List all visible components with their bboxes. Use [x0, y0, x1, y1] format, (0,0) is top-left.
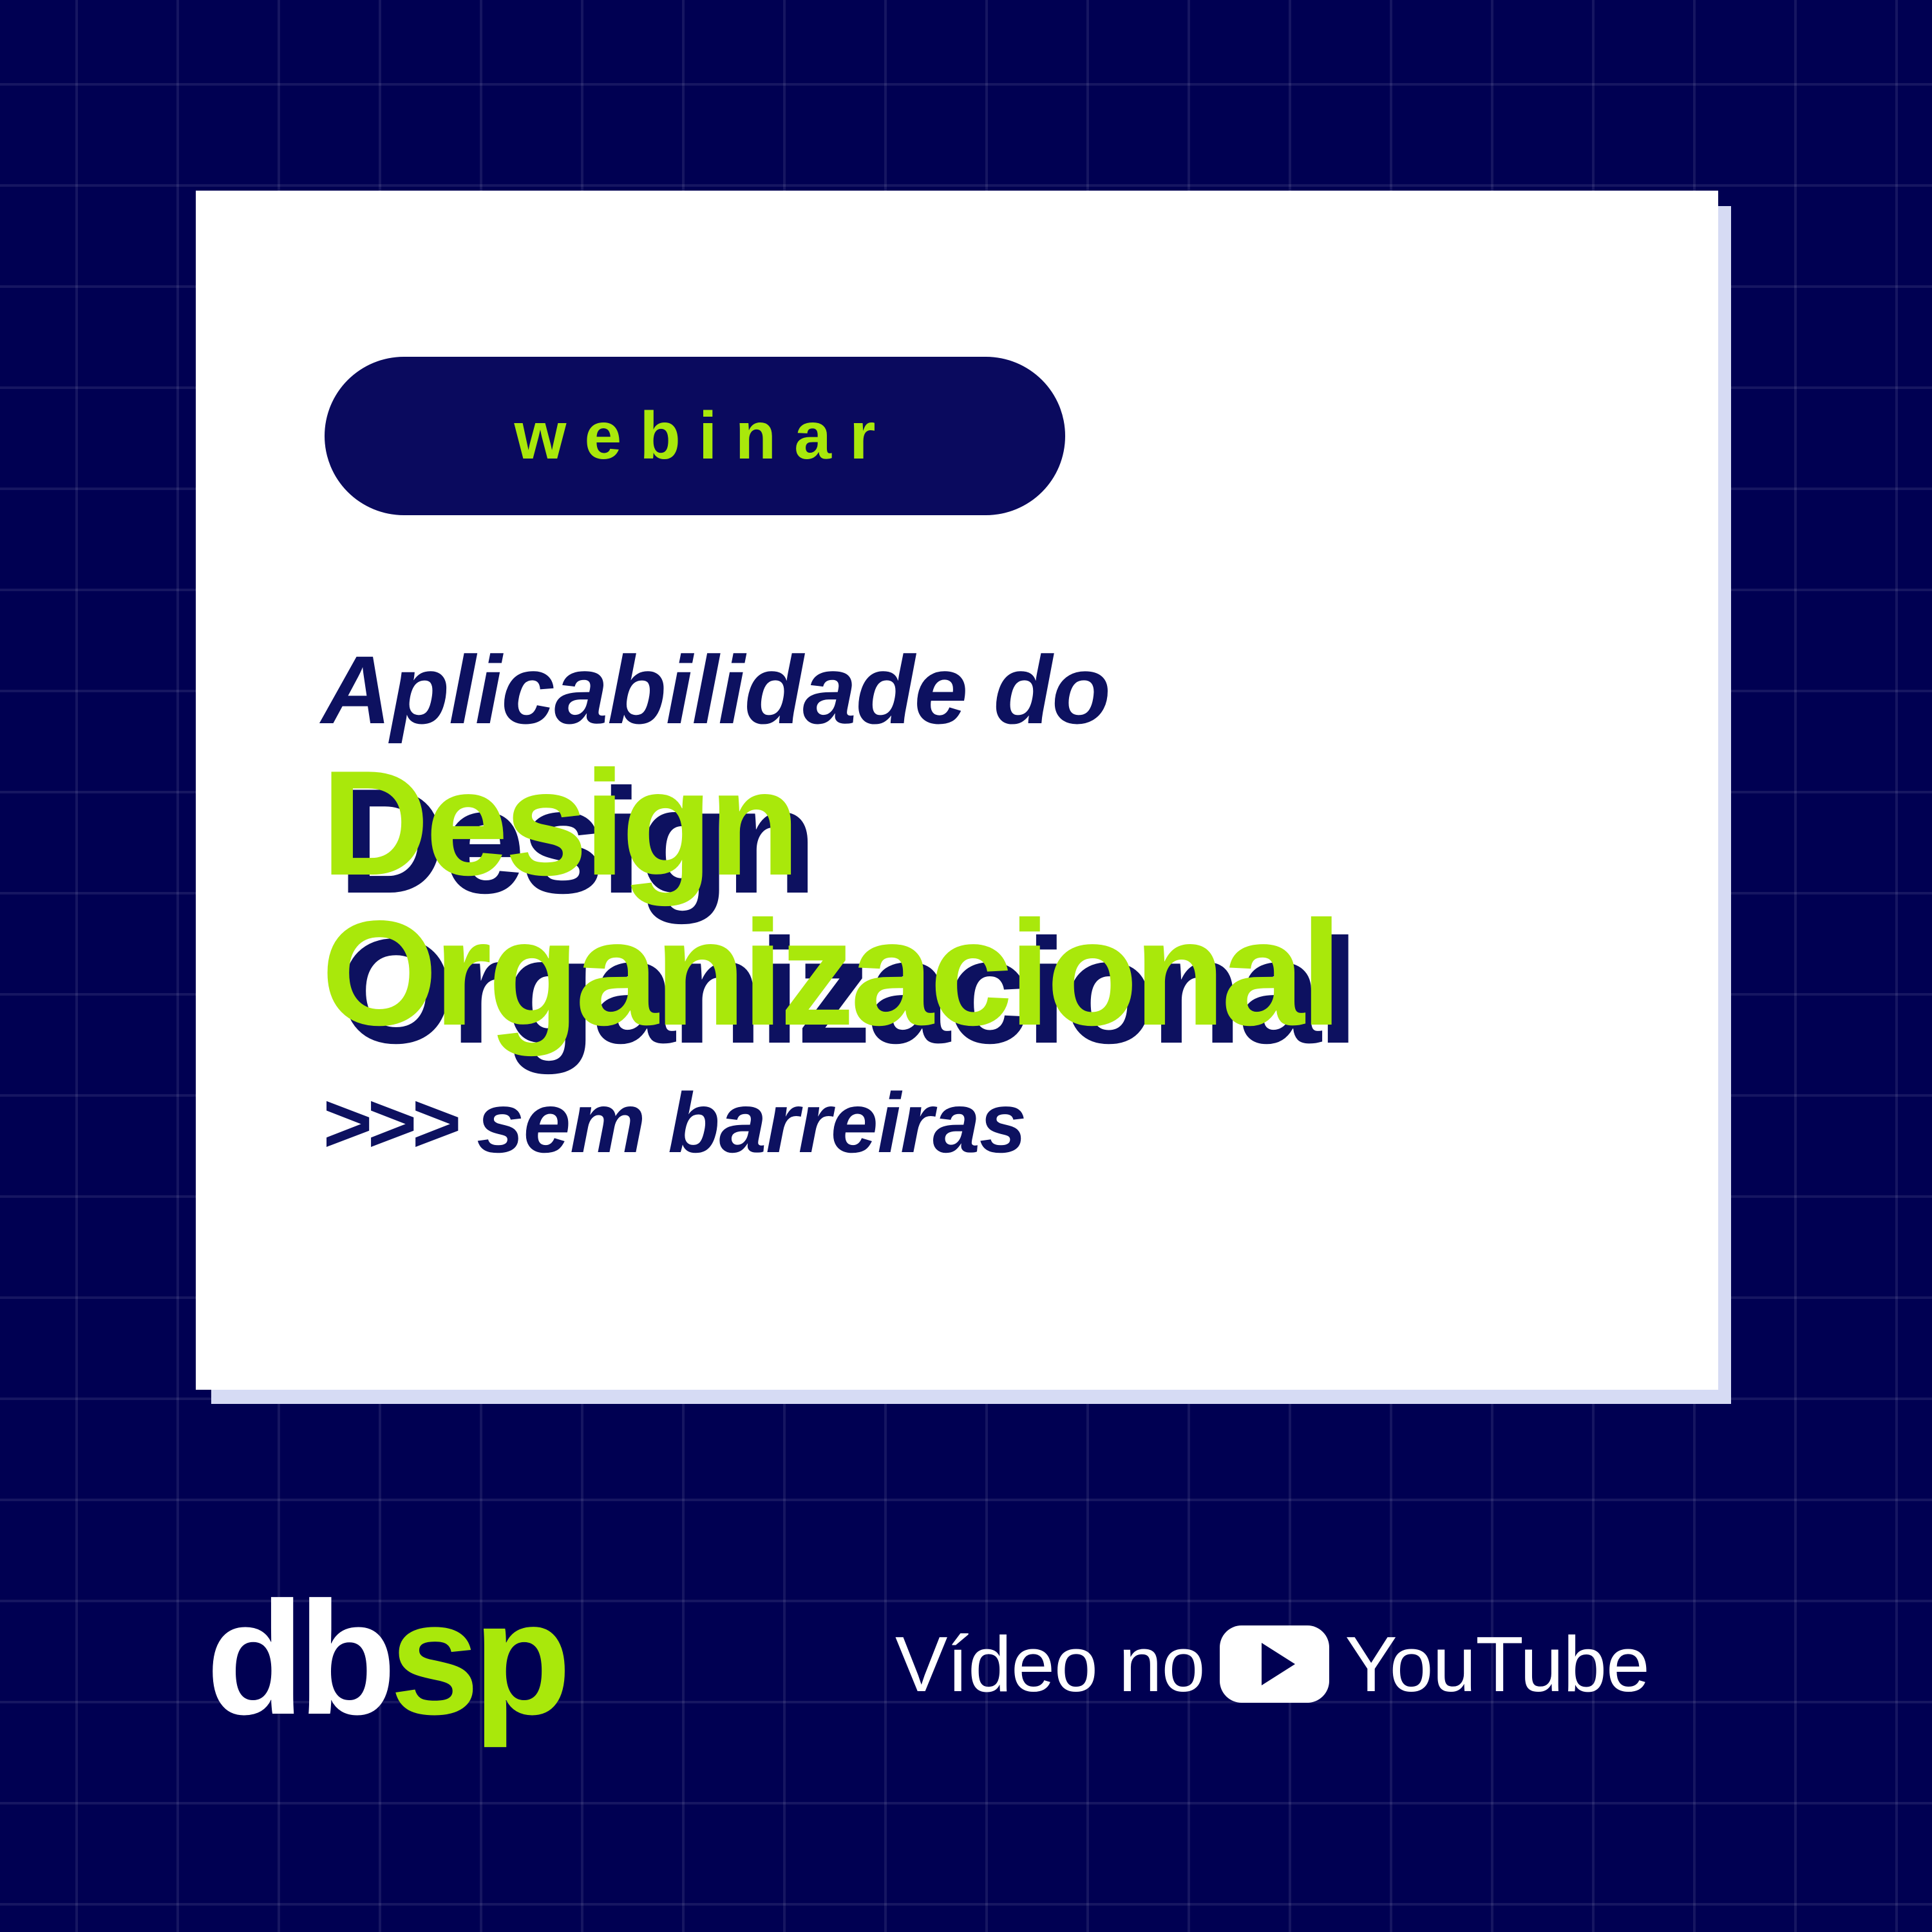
play-triangle-icon	[1262, 1643, 1295, 1685]
webinar-badge-label: webinar	[497, 402, 894, 469]
youtube-play-icon	[1220, 1625, 1329, 1703]
chevron-triple-icon: >>>	[321, 1075, 455, 1170]
headline-line-design: Design	[321, 747, 1674, 901]
headline-block: Aplicabilidade do Design Organizacional …	[321, 641, 1674, 1166]
dbsp-logo: dbsp	[206, 1578, 565, 1739]
headline-tagline: >>>sem barreiras	[321, 1081, 1674, 1166]
youtube-label: YouTube	[1345, 1625, 1649, 1703]
content-card: webinar Aplicabilidade do Design Organiz…	[196, 191, 1718, 1390]
tagline-text: sem barreiras	[477, 1075, 1026, 1170]
logo-text-db: db	[206, 1568, 390, 1748]
webinar-badge: webinar	[325, 357, 1065, 515]
youtube-prefix-label: Vídeo no	[895, 1625, 1204, 1703]
poster-footer: dbsp Vídeo no YouTube	[0, 1578, 1932, 1771]
logo-text-sp: sp	[390, 1568, 565, 1748]
poster-canvas: webinar Aplicabilidade do Design Organiz…	[0, 0, 1932, 1932]
headline-line-organizacional: Organizacional	[321, 897, 1674, 1051]
headline-kicker: Aplicabilidade do	[321, 641, 1674, 738]
youtube-callout[interactable]: Vídeo no YouTube	[895, 1613, 1649, 1716]
